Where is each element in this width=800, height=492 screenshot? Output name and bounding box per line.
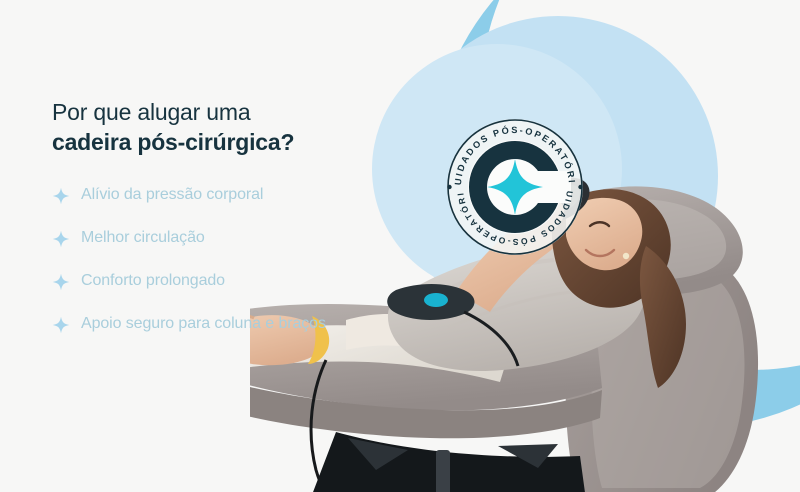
benefit-label: Alívio da pressão corporal: [81, 184, 263, 205]
badge-dot-left: [447, 185, 451, 189]
poster-canvas: CUIDADOS PÓS-OPERATÓRIO CUIDADOS PÓS-OPE…: [0, 0, 800, 492]
recliner-base: [310, 432, 586, 492]
remote-button: [424, 293, 448, 307]
list-item: Conforto prolongado: [52, 270, 382, 291]
list-item: Alívio da pressão corporal: [52, 184, 382, 205]
sparkle-icon: [52, 273, 70, 291]
benefit-label: Conforto prolongado: [81, 270, 225, 291]
headline-line-1: Por que alugar uma: [52, 98, 382, 128]
benefit-label: Apoio seguro para coluna e braços: [81, 313, 326, 334]
sparkle-icon: [52, 230, 70, 248]
sparkle-icon: [52, 187, 70, 205]
list-item: Melhor circulação: [52, 227, 382, 248]
headline-line-2: cadeira pós-cirúrgica?: [52, 128, 382, 158]
benefit-label: Melhor circulação: [81, 227, 205, 248]
page-title: Por que alugar uma cadeira pós-cirúrgica…: [52, 98, 382, 158]
benefits-list: Alívio da pressão corporal Melhor circul…: [52, 184, 382, 334]
earring: [623, 253, 629, 259]
sparkle-icon: [52, 316, 70, 334]
badge-dot-right: [578, 185, 582, 189]
content-column: Por que alugar uma cadeira pós-cirúrgica…: [52, 98, 382, 334]
list-item: Apoio seguro para coluna e braços: [52, 313, 382, 334]
brand-seal-badge: CUIDADOS PÓS-OPERATÓRIO CUIDADOS PÓS-OPE…: [443, 115, 587, 259]
